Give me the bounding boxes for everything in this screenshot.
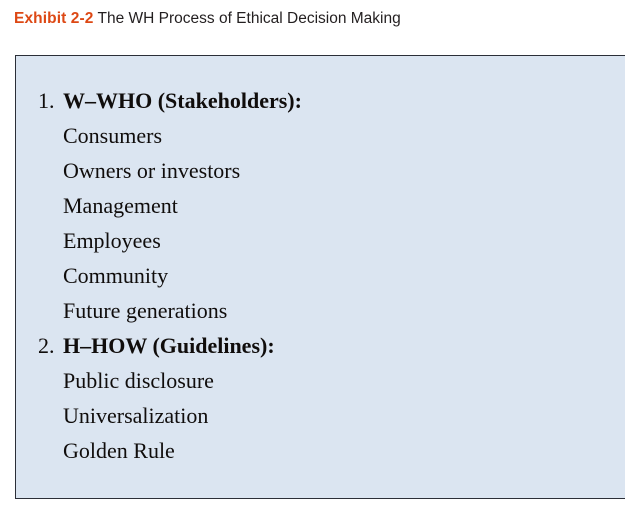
list-item: Future generations bbox=[16, 293, 625, 328]
exhibit-panel: 1. W–WHO (Stakeholders): Consumers Owner… bbox=[15, 55, 625, 499]
exhibit-figure: Exhibit 2-2 The WH Process of Ethical De… bbox=[0, 0, 625, 519]
list-number-1: 1. bbox=[38, 83, 55, 118]
list-heading-how: 2. H–HOW (Guidelines): bbox=[16, 328, 625, 363]
list-group-who: 1. W–WHO (Stakeholders): Consumers Owner… bbox=[16, 83, 625, 328]
list-heading-who-label: W–WHO (Stakeholders): bbox=[38, 83, 302, 118]
list-item: Public disclosure bbox=[16, 363, 625, 398]
exhibit-caption-text: The WH Process of Ethical Decision Makin… bbox=[93, 10, 400, 27]
list-heading-who: 1. W–WHO (Stakeholders): bbox=[16, 83, 625, 118]
list-heading-how-label: H–HOW (Guidelines): bbox=[38, 328, 275, 363]
list-item: Community bbox=[16, 258, 625, 293]
list-item: Owners or investors bbox=[16, 153, 625, 188]
exhibit-panel-content: 1. W–WHO (Stakeholders): Consumers Owner… bbox=[16, 56, 625, 468]
exhibit-caption: Exhibit 2-2 The WH Process of Ethical De… bbox=[14, 9, 401, 29]
exhibit-caption-label: Exhibit 2-2 bbox=[14, 10, 93, 27]
list-item: Golden Rule bbox=[16, 433, 625, 468]
list-item: Employees bbox=[16, 223, 625, 258]
list-group-how: 2. H–HOW (Guidelines): Public disclosure… bbox=[16, 328, 625, 468]
list-item: Consumers bbox=[16, 118, 625, 153]
list-item: Universalization bbox=[16, 398, 625, 433]
list-number-2: 2. bbox=[38, 328, 55, 363]
list-item: Management bbox=[16, 188, 625, 223]
